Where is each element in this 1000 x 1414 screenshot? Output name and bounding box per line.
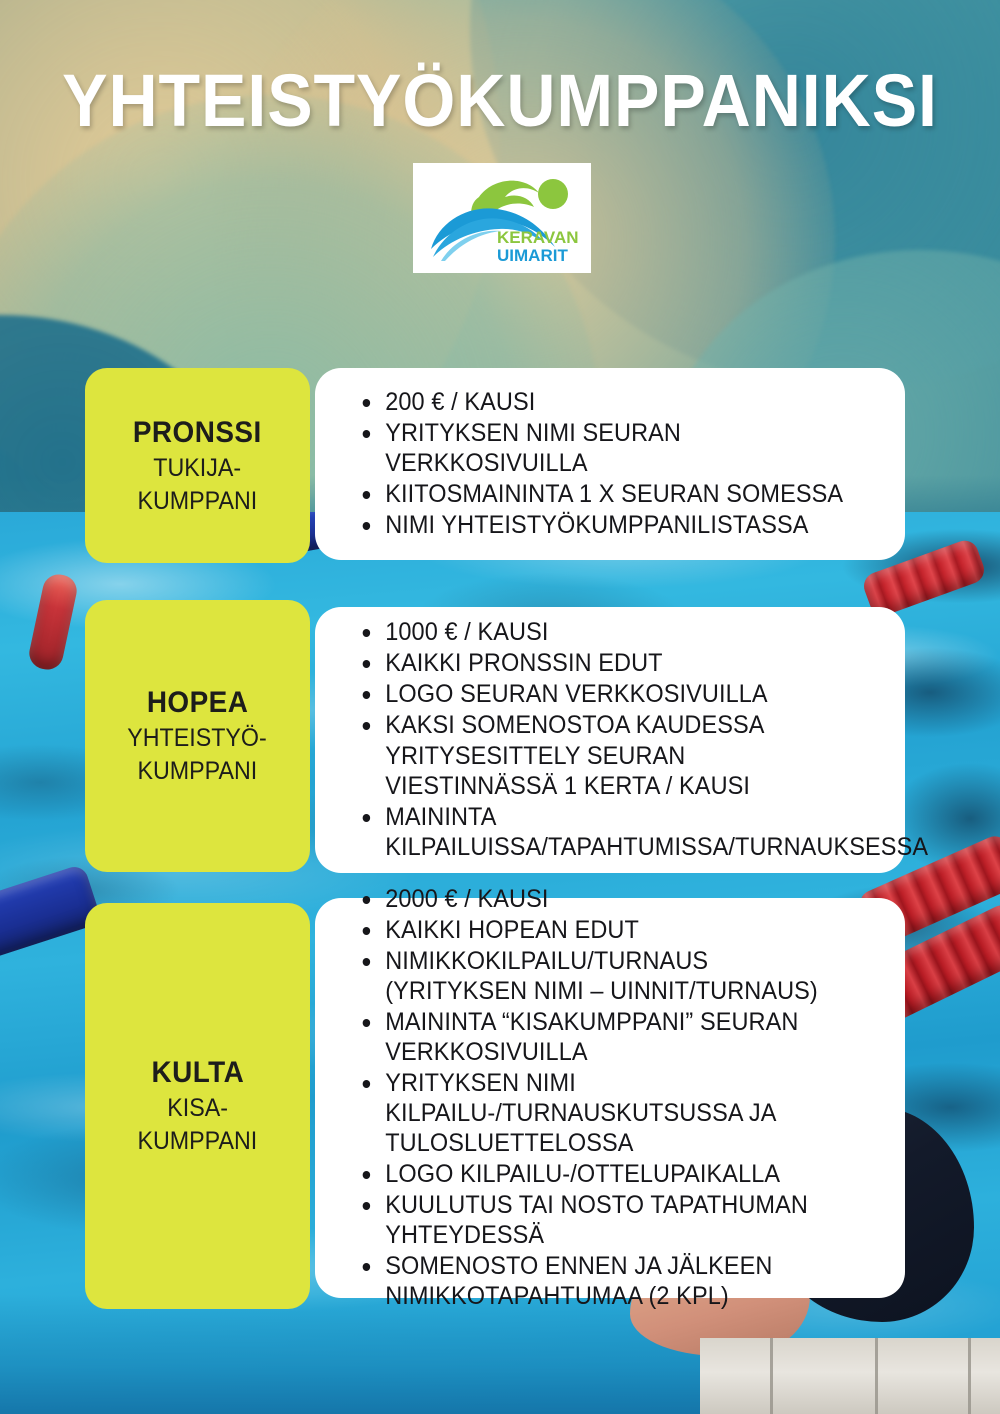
list-item: YRITYKSEN NIMI SEURAN VERKKOSIVUILLA [357,418,855,478]
list-item: NIMI YHTEISTYÖKUMPPANILISTASSA [357,510,855,540]
tier-badge-silver[interactable]: HOPEA YHTEISTYÖ- KUMPPANI [85,600,310,872]
tier-name-silver: HOPEA [147,685,249,721]
list-item: YRITYKSEN NIMI KILPAILU-/TURNAUSKUTSUSSA… [357,1068,855,1158]
list-item: KIITOSMAININTA 1 X SEURAN SOMESSA [357,479,855,509]
tier-subtitle-bronze-line1: TUKIJA- [154,453,242,484]
list-item: 2000 € / KAUSI [357,884,855,914]
benefit-list-bronze: 200 € / KAUSI YRITYKSEN NIMI SEURAN VERK… [315,387,905,541]
page-title: YHTEISTYÖKUMPPANIKSI [40,58,960,144]
list-item: KAIKKI PRONSSIN EDUT [357,648,855,678]
pool-tile-edge [700,1338,1000,1414]
tier-name-gold: KULTA [151,1055,244,1091]
tier-badge-gold[interactable]: KULTA KISA- KUMPPANI [85,903,310,1309]
tier-benefits-card-silver: 1000 € / KAUSI KAIKKI PRONSSIN EDUT LOGO… [315,607,905,873]
benefit-list-gold: 2000 € / KAUSI KAIKKI HOPEAN EDUT NIMIKK… [315,884,905,1312]
list-item: MAININTA “KISAKUMPPANI” SEURAN VERKKOSIV… [357,1007,855,1067]
logo-text-line2: UIMARIT [497,246,568,265]
keravan-uimarit-logo: KERAVAN UIMARIT [413,163,591,273]
list-item: NIMIKKOKILPAILU/TURNAUS (YRITYKSEN NIMI … [357,946,855,1006]
list-item: LOGO SEURAN VERKKOSIVUILLA [357,679,855,709]
tier-badge-bronze[interactable]: PRONSSI TUKIJA- KUMPPANI [85,368,310,563]
list-item: KAKSI SOMENOSTOA KAUDESSA [357,710,855,740]
list-item: MAININTA KILPAILUISSA/TAPAHTUMISSA/TURNA… [357,802,855,862]
list-item: KAIKKI HOPEAN EDUT [357,915,855,945]
benefit-list-silver: 1000 € / KAUSI KAIKKI PRONSSIN EDUT LOGO… [315,617,905,863]
list-item: SOMENOSTO ENNEN JA JÄLKEEN NIMIKKOTAPAHT… [357,1251,855,1311]
poster-root: YHTEISTYÖKUMPPANIKSI KERAVAN UIMARIT PRO… [0,0,1000,1414]
list-item: 200 € / KAUSI [357,387,855,417]
tier-benefits-card-gold: 2000 € / KAUSI KAIKKI HOPEAN EDUT NIMIKK… [315,898,905,1298]
list-item: LOGO KILPAILU-/OTTELUPAIKALLA [357,1159,855,1189]
tier-subtitle-silver-line2: KUMPPANI [138,756,258,787]
list-item: YRITYSESITTELY SEURAN VIESTINNÄSSÄ 1 KER… [357,741,855,801]
logo-text-line1: KERAVAN [497,228,579,247]
tier-subtitle-gold-line2: KUMPPANI [138,1126,258,1157]
swimmer-logo-icon: KERAVAN UIMARIT [421,169,583,267]
list-item: KUULUTUS TAI NOSTO TAPATHUMAN YHTEYDESSÄ [357,1190,855,1250]
pool-bottom-shading [0,1294,720,1414]
tier-benefits-card-bronze: 200 € / KAUSI YRITYKSEN NIMI SEURAN VERK… [315,368,905,560]
tier-subtitle-silver-line1: YHTEISTYÖ- [128,723,268,754]
tier-subtitle-bronze-line2: KUMPPANI [138,486,258,517]
list-item: 1000 € / KAUSI [357,617,855,647]
tier-subtitle-gold-line1: KISA- [167,1093,228,1124]
tier-name-bronze: PRONSSI [133,415,262,451]
